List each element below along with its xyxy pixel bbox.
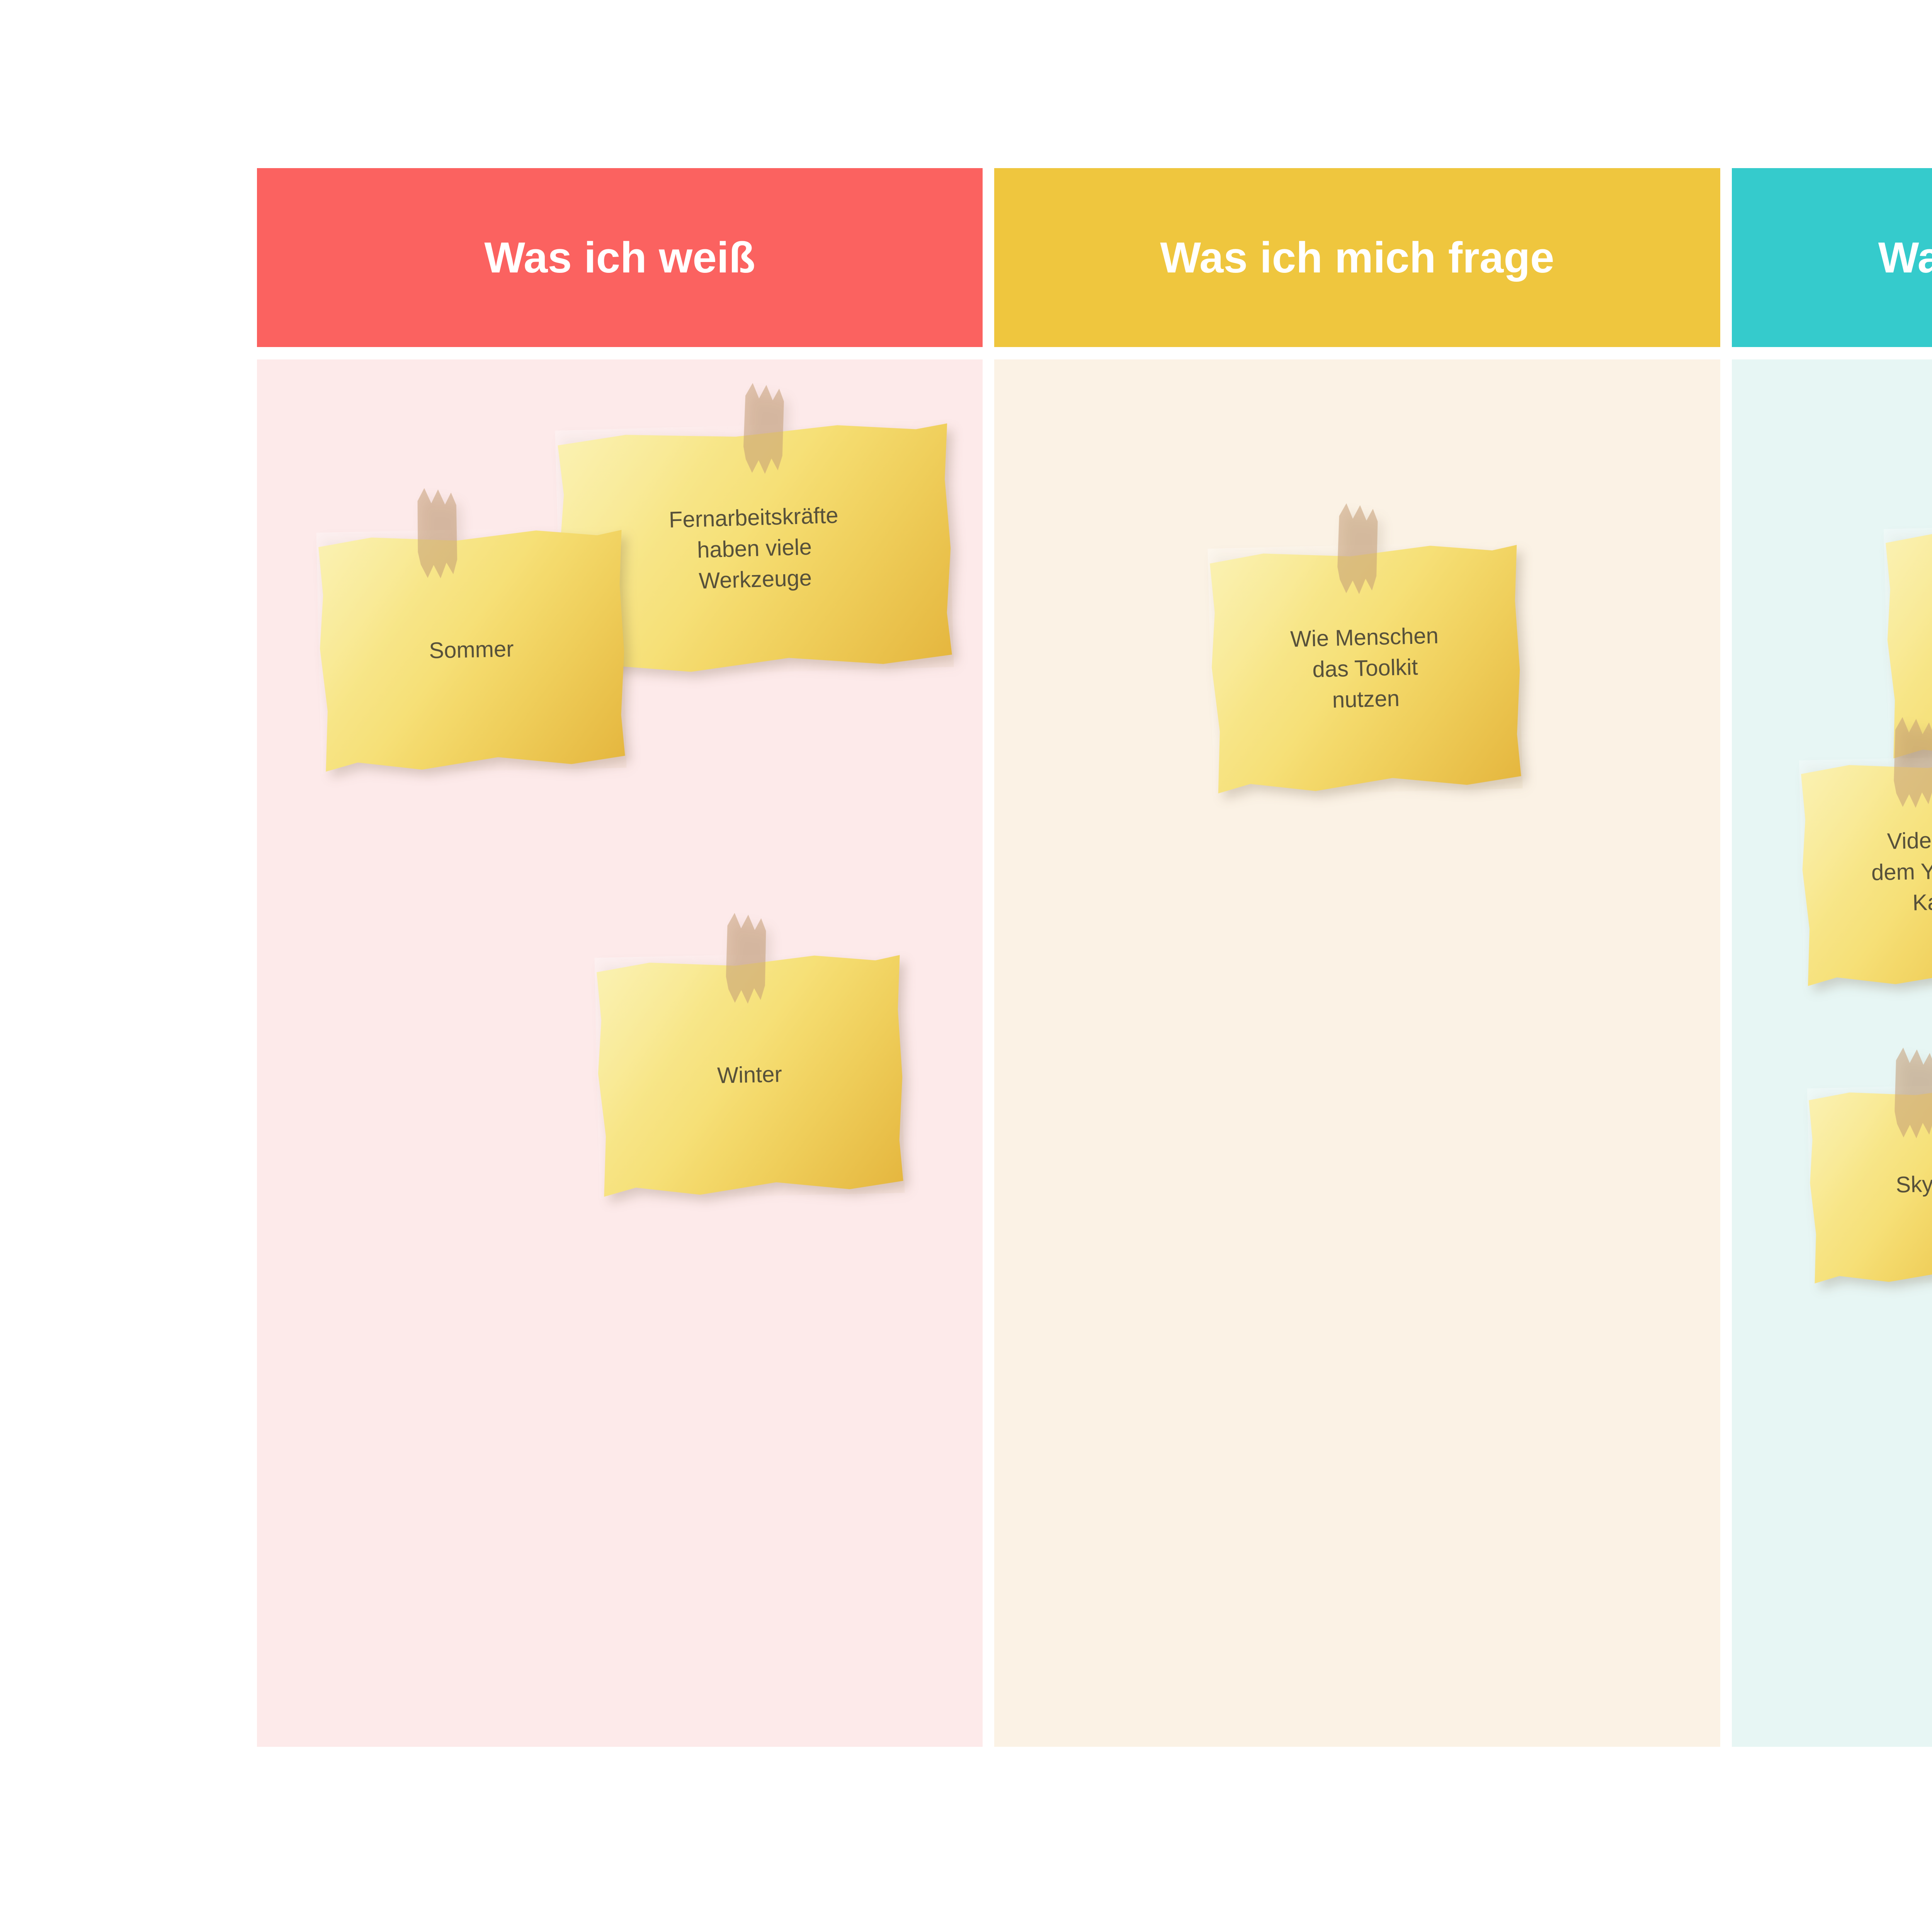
column-title-know: Was ich weiß — [484, 236, 755, 279]
column-know: Was ich weiß Fernarbeitskräfte haben vie… — [257, 168, 983, 1747]
tape-icon — [726, 913, 766, 1004]
sticky-note[interactable]: Videos auf dem Youtube- Kanal — [1799, 755, 1932, 989]
column-body-learn: Push- Nachricht Videoanruf Videos auf de… — [1732, 359, 1932, 1747]
note-text: Sommer — [416, 633, 527, 667]
kwl-board: Was ich weiß Fernarbeitskräfte haben vie… — [257, 168, 1932, 1747]
column-body-know: Fernarbeitskräfte haben viele Werkzeuge … — [257, 359, 983, 1747]
tape-icon — [1338, 503, 1378, 594]
column-learn: Was ich gelernt habe Push- Nachricht Vid… — [1732, 168, 1932, 1747]
column-header-know: Was ich weiß — [257, 168, 983, 347]
column-title-learn: Was ich gelernt habe — [1878, 236, 1932, 279]
note-text: Videos auf dem Youtube- Kanal — [1857, 824, 1932, 920]
note-text: Wie Menschen das Toolkit nutzen — [1277, 620, 1454, 717]
note-text: Winter — [704, 1059, 795, 1092]
column-wonder: Was ich mich frage Wie Menschen das Tool… — [994, 168, 1720, 1747]
tape-icon — [415, 487, 459, 579]
tape-icon — [1893, 717, 1932, 808]
note-text: Fernarbeitskräfte haben viele Werkzeuge — [655, 500, 854, 598]
column-body-wonder: Wie Menschen das Toolkit nutzen — [994, 359, 1720, 1747]
column-header-learn: Was ich gelernt habe — [1732, 168, 1932, 347]
note-text: Skype — [1882, 1168, 1932, 1201]
sticky-note[interactable]: Wie Menschen das Toolkit nutzen — [1208, 541, 1523, 796]
sticky-note[interactable]: Sommer — [316, 526, 627, 774]
column-header-wonder: Was ich mich frage — [994, 168, 1720, 347]
sticky-note[interactable]: Winter — [595, 951, 905, 1199]
tape-icon — [743, 383, 784, 474]
tape-icon — [1894, 1047, 1932, 1138]
note-paper — [1883, 522, 1932, 761]
column-title-wonder: Was ich mich frage — [1160, 236, 1554, 279]
sticky-note[interactable]: Skype — [1807, 1084, 1932, 1286]
sticky-note[interactable]: Videoanruf — [1883, 522, 1932, 761]
